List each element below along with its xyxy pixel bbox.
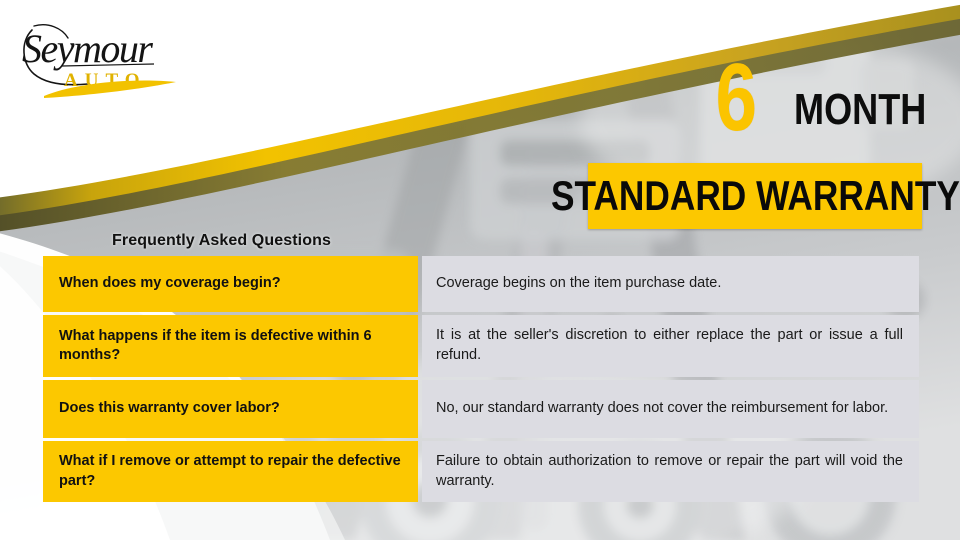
faq-answer-cell: Failure to obtain authorization to remov… — [422, 441, 919, 502]
faq-answer-cell: No, our standard warranty does not cover… — [422, 380, 919, 438]
table-row: Does this warranty cover labor? No, our … — [43, 380, 919, 438]
warranty-headline: 6 MONTH STANDARD WARRANTY — [588, 58, 928, 233]
table-row: What if I remove or attempt to repair th… — [43, 441, 919, 502]
faq-heading: Frequently Asked Questions — [112, 232, 331, 250]
warranty-slide: Seymour AUTO 6 MONTH STANDARD WARRANTY F… — [0, 0, 960, 540]
faq-question-cell: What if I remove or attempt to repair th… — [43, 441, 418, 502]
duration-number: 6 — [716, 58, 757, 139]
faq-table: When does my coverage begin? Coverage be… — [43, 256, 919, 502]
standard-warranty-label: STANDARD WARRANTY — [551, 175, 960, 217]
faq-question-cell: What happens if the item is defective wi… — [43, 315, 418, 377]
table-row: When does my coverage begin? Coverage be… — [43, 256, 919, 312]
duration-row: 6 MONTH — [704, 58, 926, 139]
duration-unit: MONTH — [794, 88, 926, 139]
table-row: What happens if the item is defective wi… — [43, 315, 919, 377]
faq-question-cell: When does my coverage begin? — [43, 256, 418, 312]
seymour-auto-logo: Seymour AUTO — [18, 16, 198, 102]
faq-answer-cell: It is at the seller's discretion to eith… — [422, 315, 919, 377]
standard-warranty-banner: STANDARD WARRANTY — [588, 163, 922, 229]
faq-answer-cell: Coverage begins on the item purchase dat… — [422, 256, 919, 312]
faq-question-cell: Does this warranty cover labor? — [43, 380, 418, 438]
